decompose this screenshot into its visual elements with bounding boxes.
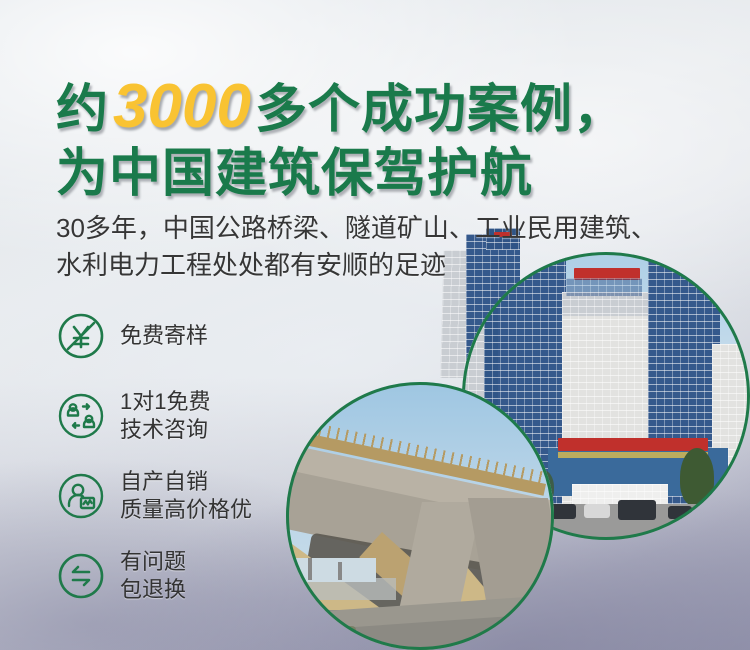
feature-line: 包退换 bbox=[120, 576, 186, 604]
headline-line-2: 为中国建筑保驾护航 bbox=[56, 148, 626, 200]
return-exchange-icon bbox=[56, 551, 106, 601]
subtitle-line-2: 水利电力工程处处都有安顺的足迹 bbox=[56, 247, 657, 284]
headline: 约3000多个成功案例， 为中国建筑保驾护航 bbox=[56, 76, 626, 200]
headline-number: 3000 bbox=[109, 72, 255, 141]
promo-banner: 约3000多个成功案例， 为中国建筑保驾护航 30多年，中国公路桥梁、隧道矿山、… bbox=[0, 0, 750, 650]
subtitle-line-1: 30多年，中国公路桥梁、隧道矿山、工业民用建筑、 bbox=[56, 210, 657, 247]
headline-suffix: 多个成功案例， bbox=[255, 81, 626, 139]
self-produce-sell-icon bbox=[56, 471, 106, 521]
feature-label-return-exchange: 有问题 包退换 bbox=[120, 548, 186, 604]
headline-line-1: 约3000多个成功案例， bbox=[56, 76, 626, 138]
feature-line: 1对1免费 bbox=[120, 388, 210, 416]
feature-list: 免费寄样 1对1免费 技术咨询 bbox=[56, 298, 252, 618]
feature-label-self-production: 自产自销 质量高价格优 bbox=[120, 468, 252, 524]
feature-label-consultation: 1对1免费 技术咨询 bbox=[120, 388, 210, 444]
feature-item-free-sample: 免费寄样 bbox=[56, 298, 252, 374]
feature-line: 技术咨询 bbox=[120, 416, 210, 444]
feature-line: 质量高价格优 bbox=[120, 496, 252, 524]
one-to-one-consult-icon bbox=[56, 391, 106, 441]
headline-prefix: 约 bbox=[56, 81, 109, 139]
feature-item-consultation: 1对1免费 技术咨询 bbox=[56, 378, 252, 454]
subtitle: 30多年，中国公路桥梁、隧道矿山、工业民用建筑、 水利电力工程处处都有安顺的足迹 bbox=[56, 210, 657, 284]
feature-line: 有问题 bbox=[120, 548, 186, 576]
bridge-photo-clip bbox=[286, 382, 554, 650]
feature-line: 免费寄样 bbox=[120, 322, 208, 350]
feature-label-free-sample: 免费寄样 bbox=[120, 322, 208, 350]
feature-item-self-production: 自产自销 质量高价格优 bbox=[56, 458, 252, 534]
feature-line: 自产自销 bbox=[120, 468, 252, 496]
feature-item-return-exchange: 有问题 包退换 bbox=[56, 538, 252, 614]
highway-bridge-photo bbox=[286, 382, 554, 650]
no-fee-yuan-icon bbox=[56, 311, 106, 361]
